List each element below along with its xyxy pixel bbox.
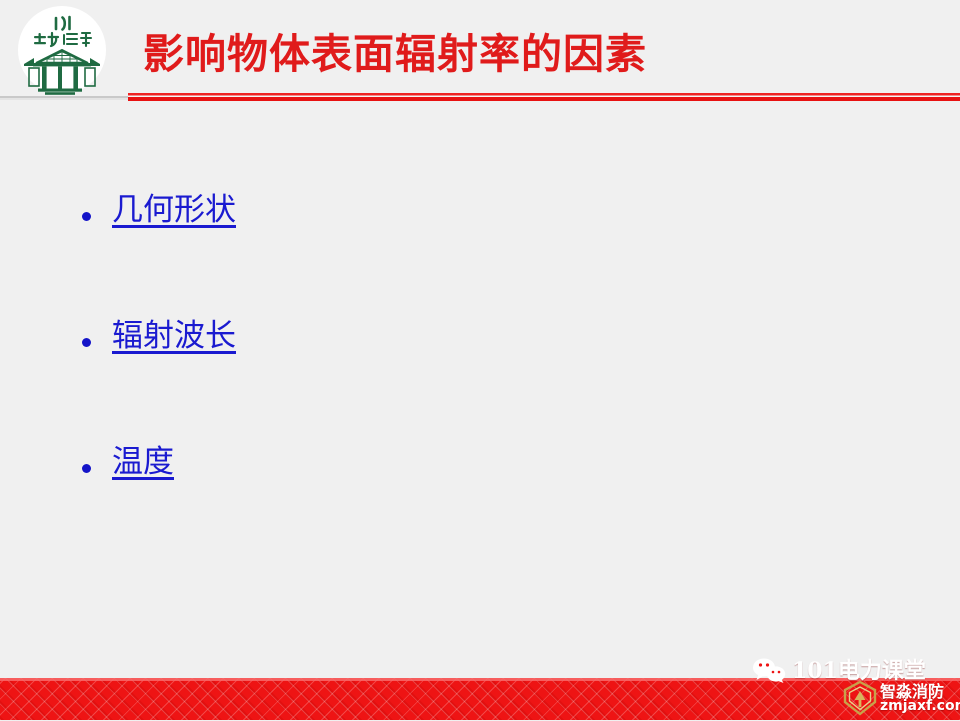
- page-title: 影响物体表面辐射率的因素: [143, 31, 647, 78]
- bullet-dot-icon: [82, 212, 91, 221]
- header-divider-gray: [0, 96, 128, 100]
- site-watermark: 智淼消防 zmjaxf.com: [842, 676, 960, 720]
- presentation-slide: 影响物体表面辐射率的因素 几何形状 辐射波长 温度: [0, 0, 960, 720]
- wechat-icon: [752, 657, 786, 683]
- slide-header: 影响物体表面辐射率的因素: [0, 0, 960, 104]
- bullet-list: 几何形状 辐射波长 温度: [0, 190, 960, 568]
- header-divider-red: [128, 93, 960, 101]
- 101-dianli-ketang-logo: [12, 4, 112, 98]
- list-item[interactable]: 温度: [0, 442, 960, 568]
- bullet-dot-icon: [82, 338, 91, 347]
- bullet-item-label[interactable]: 几何形状: [112, 190, 236, 232]
- list-item[interactable]: 几何形状: [0, 190, 960, 316]
- bullet-item-label[interactable]: 辐射波长: [112, 316, 236, 358]
- zhimiao-shield-icon: [842, 680, 878, 716]
- list-item[interactable]: 辐射波长: [0, 316, 960, 442]
- bullet-dot-icon: [82, 464, 91, 473]
- watermark-url: zmjaxf.com: [880, 698, 960, 714]
- bullet-item-label[interactable]: 温度: [112, 442, 174, 484]
